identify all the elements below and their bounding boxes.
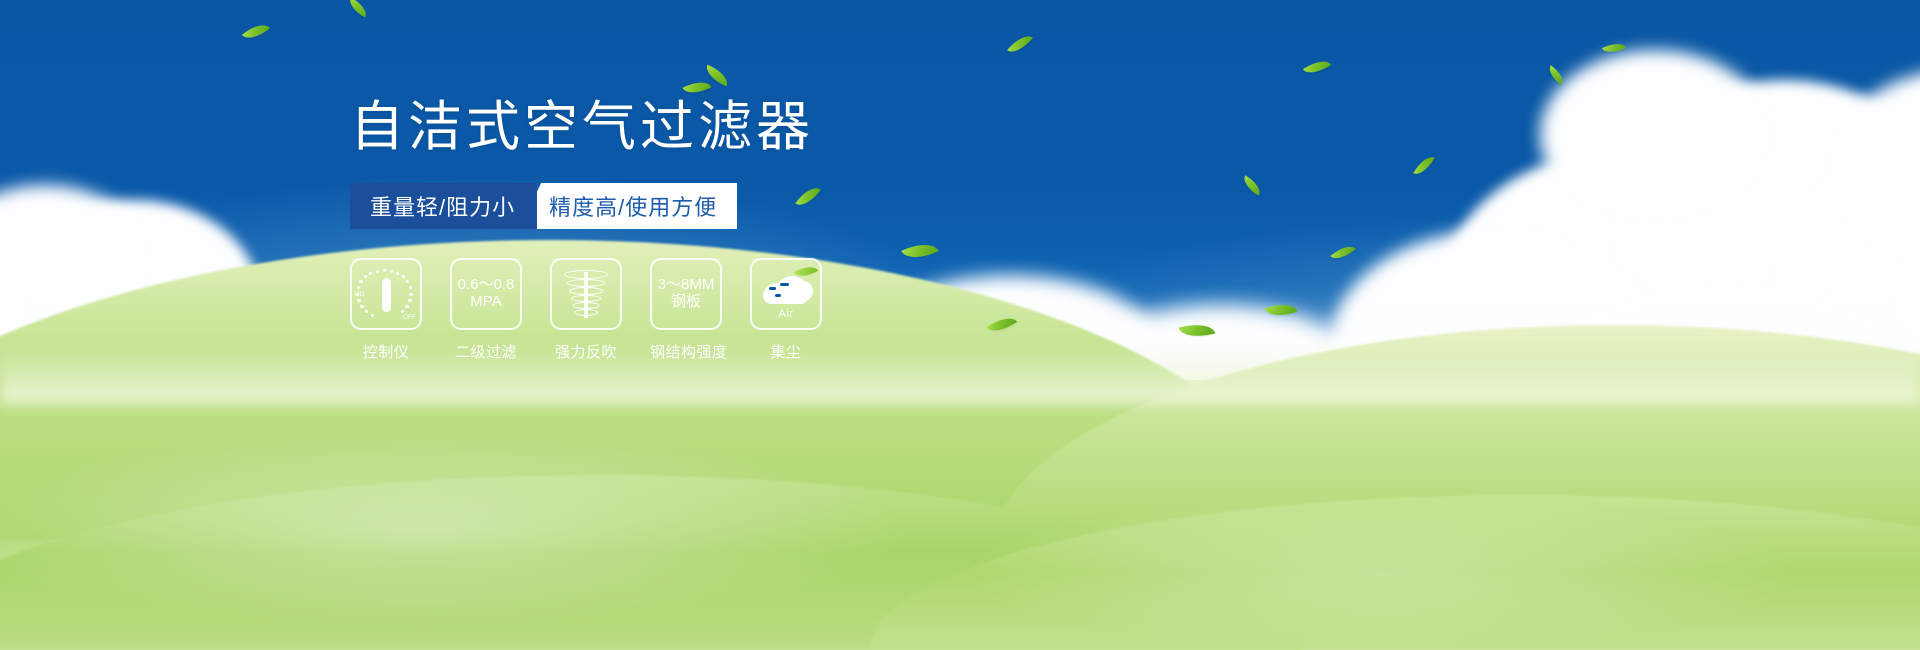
leaf-decoration <box>1179 319 1216 342</box>
feature-item-controller[interactable]: NO OFF 控制仪 <box>350 258 422 362</box>
dial-gauge-icon: NO OFF <box>358 266 414 322</box>
leaf-decoration <box>1330 241 1355 265</box>
title-row: 自洁式空气过滤器 <box>350 100 870 154</box>
subtitle-tag-secondary: 精度高/使用方便 <box>519 183 737 229</box>
leaf-decoration <box>1545 65 1567 85</box>
title-leaf-icon <box>682 67 736 105</box>
feature-label: 强力反吹 <box>550 341 622 362</box>
feature-item-filtration[interactable]: 0.6～0.8 MPA 二级过滤 <box>450 258 522 362</box>
pressure-text-icon: 0.6～0.8 MPA <box>458 277 515 311</box>
dial-label-off: OFF <box>403 315 416 321</box>
banner-content: 自洁式空气过滤器 重量轻/阻力小 精度高/使用方便 <box>350 100 870 362</box>
leaf-decoration <box>242 18 270 45</box>
page-title: 自洁式空气过滤器 <box>350 100 870 154</box>
feature-icon-box: 3～8MM 钢板 <box>650 258 722 330</box>
feature-icon-box: Air <box>750 258 822 330</box>
leaf-decoration <box>1265 298 1298 321</box>
feature-label: 控制仪 <box>350 341 422 362</box>
leaf-decoration <box>1007 30 1033 58</box>
air-cloud-icon: Air <box>757 270 815 318</box>
feature-icon-box: NO OFF <box>350 258 422 330</box>
leaf-decoration <box>1240 175 1265 196</box>
feature-label: 二级过滤 <box>450 341 522 362</box>
grass-ground <box>0 380 1920 650</box>
leaf-decoration <box>1303 55 1331 79</box>
steel-plate-text-icon: 3～8MM 钢板 <box>658 277 715 311</box>
feature-icon-row: NO OFF 控制仪 0.6～0.8 MPA 二级过滤 <box>350 258 870 362</box>
feature-label: 钢结构强度 <box>650 341 722 362</box>
spiral-filter-icon <box>563 268 609 320</box>
subtitle-tag-group: 重量轻/阻力小 精度高/使用方便 <box>350 183 870 229</box>
feature-icon-box <box>550 258 622 330</box>
feature-item-steel-strength[interactable]: 3～8MM 钢板 钢结构强度 <box>650 258 722 362</box>
air-text-label: Air <box>757 308 815 320</box>
dial-label-no: NO <box>355 292 365 298</box>
leaf-decoration <box>1413 152 1435 178</box>
leaf-decoration <box>346 0 371 18</box>
feature-icon-box: 0.6～0.8 MPA <box>450 258 522 330</box>
feature-item-dust-collection[interactable]: Air 集尘 <box>750 258 822 362</box>
leaf-decoration <box>1602 39 1626 57</box>
subtitle-tag-primary: 重量轻/阻力小 <box>350 183 537 229</box>
grass-horizon-blend <box>0 345 1920 405</box>
product-hero-banner: 自洁式空气过滤器 重量轻/阻力小 精度高/使用方便 <box>0 0 1920 650</box>
feature-item-backblow[interactable]: 强力反吹 <box>550 258 622 362</box>
leaf-decoration <box>901 237 939 266</box>
feature-label: 集尘 <box>750 341 822 362</box>
